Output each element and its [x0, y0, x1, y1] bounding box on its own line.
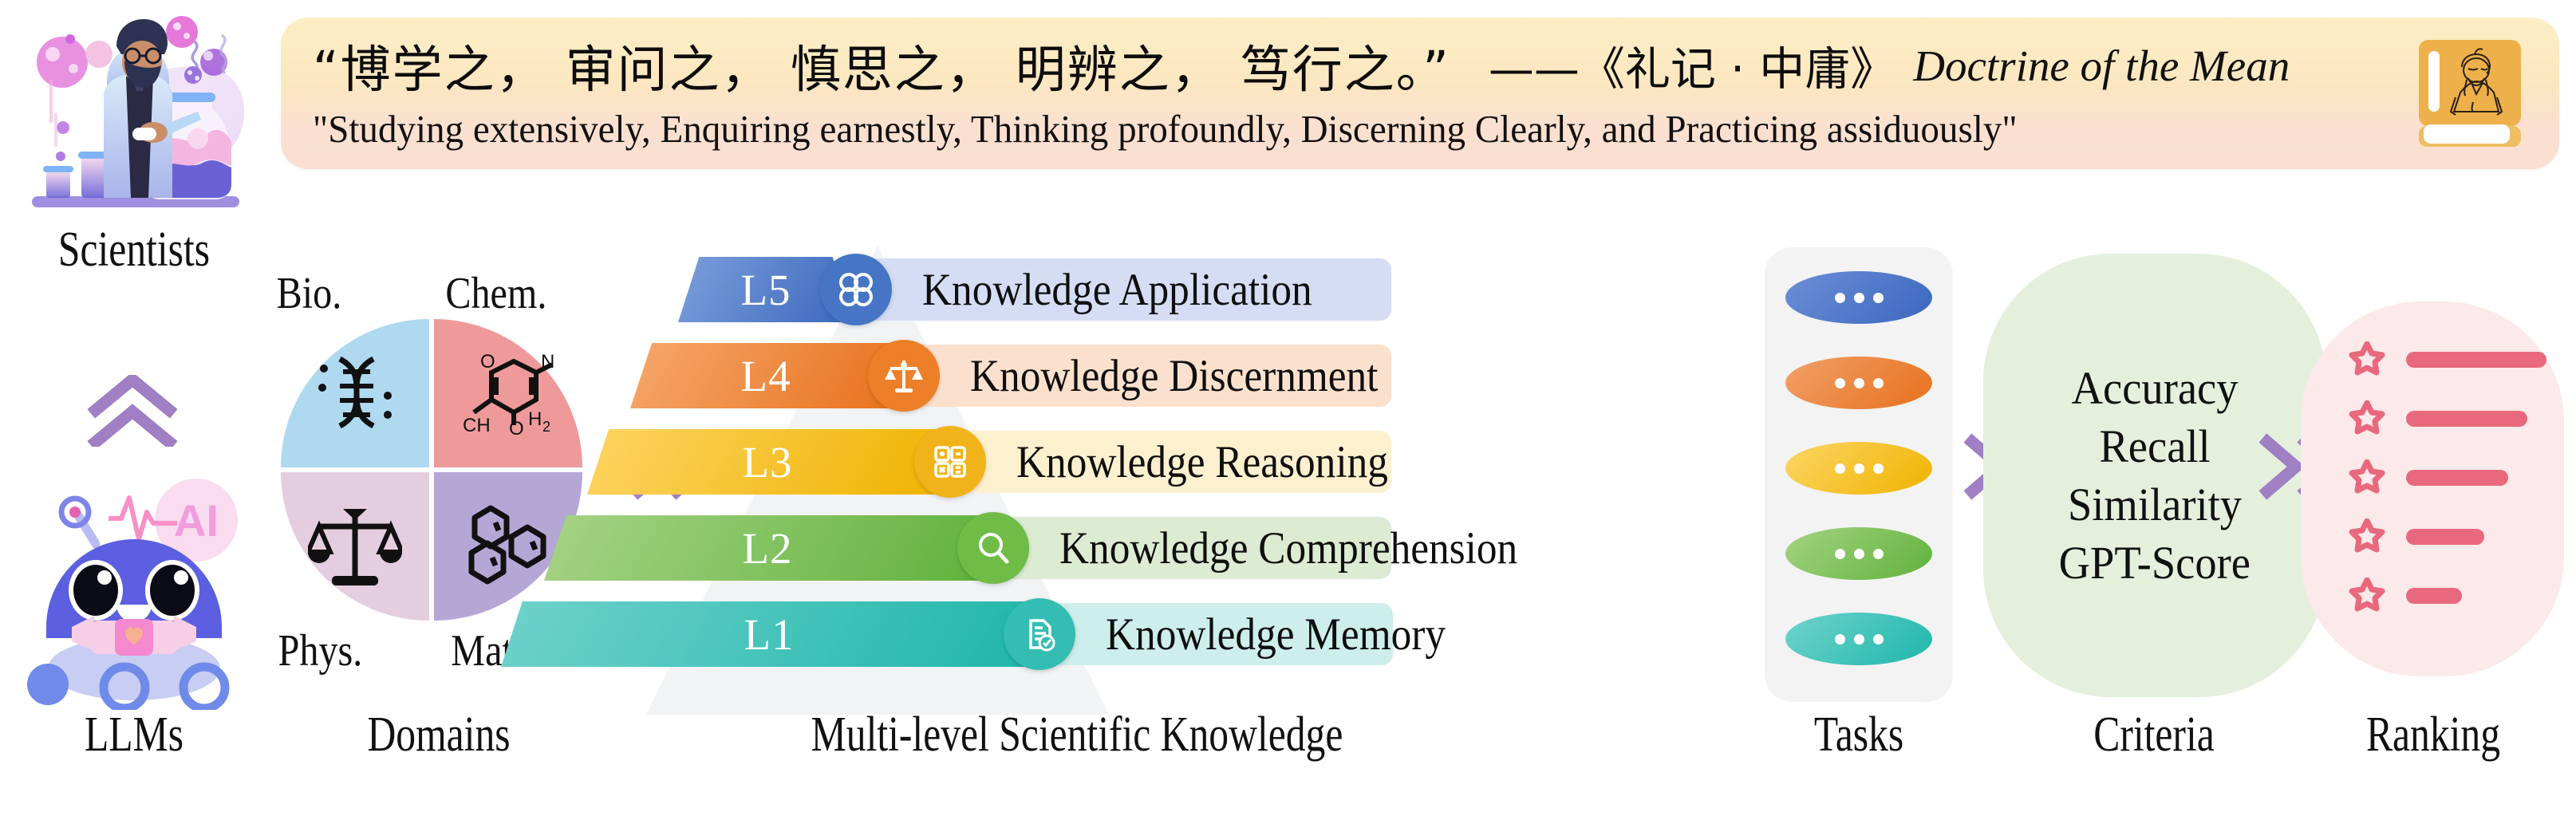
quote-banner: “博学之， 审问之， 慎思之， 明辨之， 笃行之。” ——《礼记 · 中庸》 D… — [281, 18, 2559, 169]
level-title-l1: Knowledge Memory — [1106, 609, 1446, 660]
svg-text:H: H — [528, 408, 542, 430]
ranking-row[interactable] — [2349, 459, 2508, 496]
level-bar-l2: Knowledge Comprehension — [986, 517, 1391, 579]
criteria-item-recall: Recall — [2099, 420, 2210, 473]
quote-line: “博学之， 审问之， 慎思之， 明辨之， 笃行之。” ——《礼记 · 中庸》 D… — [313, 29, 2355, 102]
svg-text:2: 2 — [542, 419, 550, 435]
svg-text:O: O — [509, 418, 524, 440]
task-pill-l2[interactable] — [1785, 527, 1932, 580]
level-title-l4: Knowledge Discernment — [970, 350, 1378, 402]
scientists-illustration — [5, 0, 268, 231]
star-icon — [2349, 518, 2385, 555]
ranking-panel — [2301, 302, 2564, 676]
task-pill-l5[interactable] — [1785, 271, 1932, 324]
ellipsis-icon — [1835, 634, 1884, 645]
criteria-label: Criteria — [2026, 707, 2282, 763]
level-tile-l2: L2 — [544, 515, 991, 581]
ranking-row[interactable] — [2349, 518, 2484, 555]
ranking-bar — [2406, 529, 2484, 545]
four-circles-icon — [820, 254, 892, 325]
calculator-icon — [914, 426, 986, 498]
task-pill-l1[interactable] — [1785, 613, 1932, 665]
svg-text:N: N — [541, 351, 554, 373]
criteria-item-similarity: Similarity — [2068, 478, 2242, 531]
level-bar-l3: Knowledge Reasoning — [943, 431, 1391, 493]
ellipsis-icon — [1835, 378, 1884, 388]
document-check-icon — [1004, 598, 1075, 670]
ranking-label: Ranking — [2325, 707, 2542, 763]
pyramid-level-l2[interactable]: L2 Knowledge Comprehension — [544, 515, 1391, 581]
ranking-row[interactable] — [2349, 578, 2462, 614]
pyramid-label: Multi-level Scientific Knowledge — [700, 707, 1454, 763]
svg-text:CH: CH — [463, 415, 491, 436]
level-bar-l5: Knowledge Application — [849, 258, 1391, 321]
ai-robot-illustration: AI — [22, 471, 246, 710]
level-tile-l4: L4 — [630, 343, 901, 408]
domains-label: Domains — [279, 707, 598, 763]
double-chevron-up-icon — [77, 375, 188, 447]
ranking-bar — [2406, 411, 2527, 427]
pyramid-level-l3[interactable]: L3 — [587, 429, 1391, 495]
level-title-l3: Knowledge Reasoning — [1016, 436, 1388, 488]
level-bar-l1: Knowledge Memory — [1032, 603, 1393, 665]
pyramid-level-l5[interactable]: L5 Knowledge Application — [678, 257, 1391, 322]
quote-source-english: Doctrine of the Mean — [1913, 41, 2290, 91]
criteria-item-gpt-score: GPT-Score — [2059, 536, 2251, 589]
ranking-row[interactable] — [2349, 400, 2527, 437]
magnifier-icon — [957, 512, 1029, 584]
ai-badge-text: AI — [174, 495, 219, 546]
tasks-panel — [1765, 247, 1953, 702]
ranking-bar — [2406, 352, 2546, 368]
star-icon — [2349, 459, 2385, 496]
domain-label-bio: Bio. — [277, 268, 342, 319]
domains-wheel: O N CH O H 2 — [281, 319, 592, 630]
star-icon — [2349, 400, 2385, 437]
scales-icon — [308, 503, 402, 590]
quote-chinese: “博学之， 审问之， 慎思之， 明辨之， 笃行之。” — [313, 30, 1450, 102]
hexagons-icon — [464, 503, 553, 589]
level-tile-l3: L3 — [587, 429, 948, 495]
molecule-icon: O N CH O H 2 — [458, 345, 558, 441]
criteria-item-accuracy: Accuracy — [2072, 361, 2239, 415]
quote-source-chinese: ——《礼记 · 中庸》 — [1489, 33, 1896, 98]
ranking-row[interactable] — [2349, 341, 2546, 378]
llms-label: LLMs — [27, 707, 242, 763]
domain-quadrant-bio[interactable] — [281, 319, 429, 467]
pyramid-section: L5 Knowledge Application L4 — [558, 239, 1755, 718]
pyramid-level-l1[interactable]: L1 Knowledge Memory — [501, 601, 1393, 667]
pyramid-level-l4[interactable]: L4 Knowledge Discernment — [630, 343, 1391, 408]
star-icon — [2349, 341, 2385, 378]
level-title-l2: Knowledge Comprehension — [1059, 522, 1517, 574]
ellipsis-icon — [1835, 549, 1884, 559]
level-bar-l4: Knowledge Discernment — [897, 345, 1391, 407]
star-icon — [2349, 578, 2385, 614]
quote-english: "Studying extensively, Enquiring earnest… — [313, 104, 2274, 153]
tasks-label: Tasks — [1750, 707, 1967, 763]
scientists-label: Scientists — [27, 222, 242, 278]
ranking-bar — [2406, 470, 2508, 486]
task-pill-l4[interactable] — [1785, 357, 1932, 409]
ranking-bar — [2406, 588, 2462, 604]
ellipsis-icon — [1835, 463, 1884, 474]
balance-scales-icon — [868, 340, 940, 412]
domain-label-chem: Chem. — [445, 268, 546, 319]
domain-quadrant-phys[interactable] — [281, 472, 429, 621]
dna-icon — [311, 349, 399, 437]
level-title-l5: Knowledge Application — [922, 264, 1312, 316]
confucius-book-icon — [2412, 35, 2531, 155]
ellipsis-icon — [1835, 293, 1884, 303]
task-pill-l3[interactable] — [1785, 442, 1932, 495]
domain-label-phys: Phys. — [278, 625, 363, 676]
svg-text:O: O — [480, 351, 495, 373]
level-tile-l1: L1 — [501, 601, 1037, 667]
